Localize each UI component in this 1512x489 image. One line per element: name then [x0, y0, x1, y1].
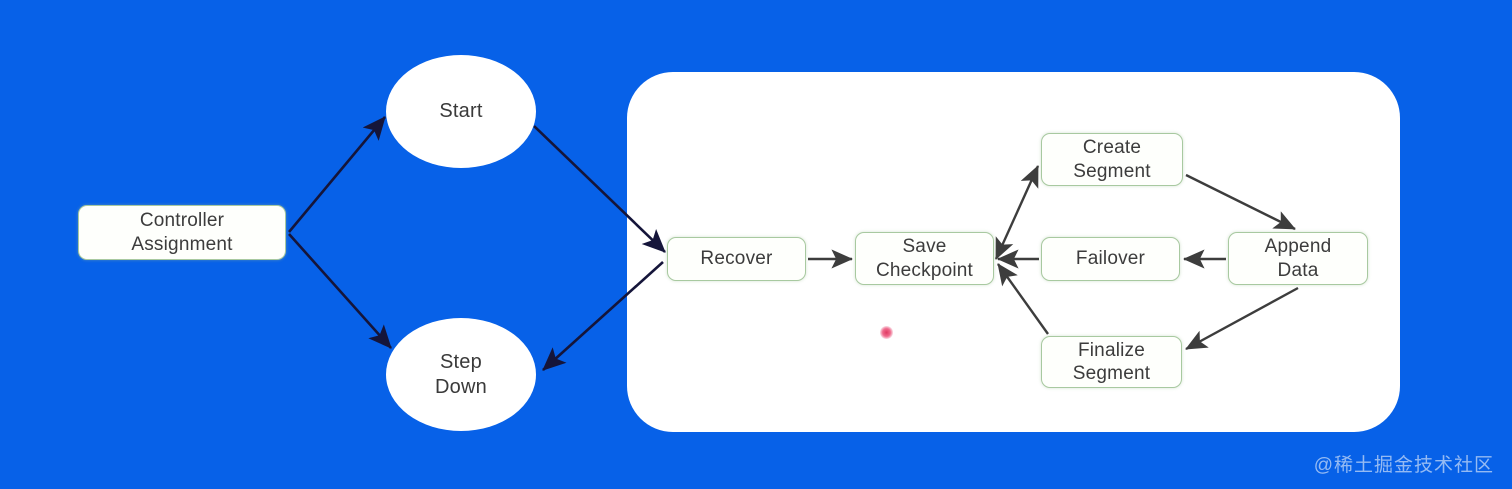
watermark-label: @稀土掘金技术社区 [1314, 450, 1494, 477]
node-controller-assignment[interactable]: Controller Assignment [78, 205, 286, 260]
node-save-checkpoint[interactable]: Save Checkpoint [855, 232, 994, 285]
node-create-segment[interactable]: Create Segment [1041, 133, 1183, 186]
node-step-down[interactable]: Step Down [386, 318, 536, 431]
diagram-canvas: Controller Assignment Start Step Down Re… [0, 0, 1512, 489]
edge-controller-to-start [289, 117, 385, 232]
node-start[interactable]: Start [386, 55, 536, 168]
cursor-pointer-dot [880, 326, 893, 339]
node-recover[interactable]: Recover [667, 237, 806, 281]
node-append-data[interactable]: Append Data [1228, 232, 1368, 285]
node-finalize-segment[interactable]: Finalize Segment [1041, 336, 1182, 388]
node-failover[interactable]: Failover [1041, 237, 1180, 281]
edge-controller-to-stepdown [289, 234, 391, 348]
